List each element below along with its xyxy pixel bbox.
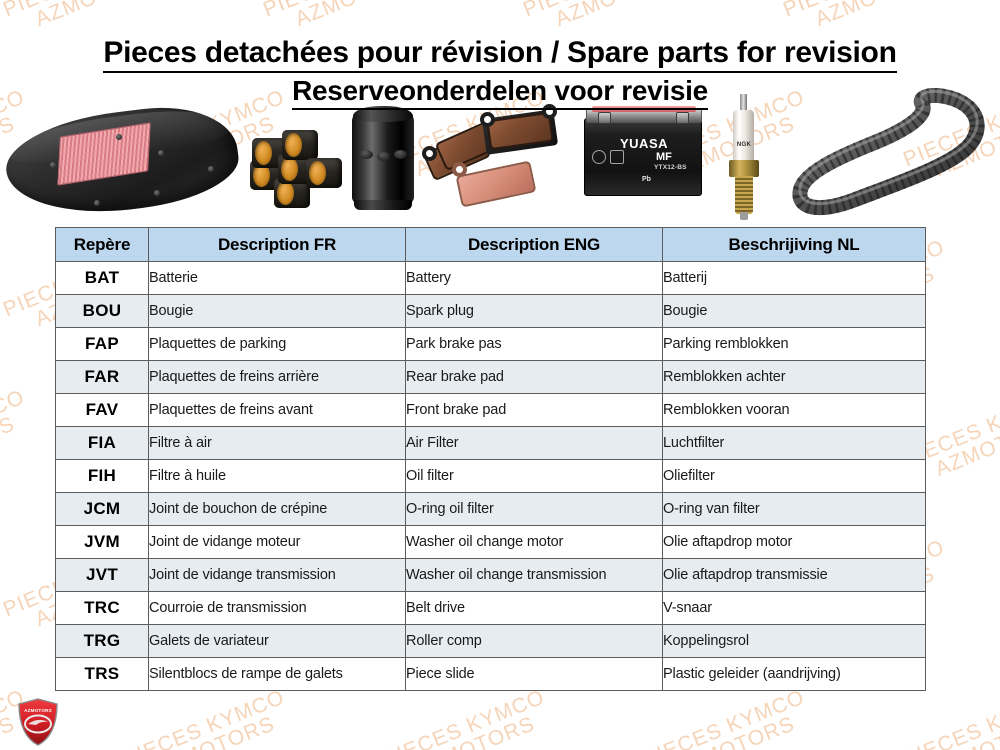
- cell-description-eng: Battery: [406, 262, 663, 295]
- page-title-fr-en: Pieces detachées pour révision / Spare p…: [103, 36, 896, 73]
- table-header-row: Repère Description FR Description ENG Be…: [56, 228, 926, 262]
- watermark-line-1: PIECES KYMCO: [0, 0, 168, 22]
- cell-repere: JVT: [56, 559, 149, 592]
- watermark-line-2: AZMOTORS: [412, 705, 556, 750]
- cell-repere: JVM: [56, 526, 149, 559]
- cell-description-eng: Belt drive: [406, 592, 663, 625]
- cell-repere: BAT: [56, 262, 149, 295]
- watermark-line-1: PIECES KYMCO: [0, 386, 28, 473]
- cell-description-fr: Joint de bouchon de crépine: [149, 493, 406, 526]
- watermark-line-1: PIECES KYMCO: [900, 686, 1000, 750]
- cell-beschrijiving-nl: Remblokken achter: [663, 361, 926, 394]
- cell-description-eng: Park brake pas: [406, 328, 663, 361]
- table-row: JCMJoint de bouchon de crépineO-ring oil…: [56, 493, 926, 526]
- table-row: BOUBougieSpark plugBougie: [56, 295, 926, 328]
- spark-plug-photo: NGK: [724, 94, 764, 220]
- cell-beschrijiving-nl: O-ring van filter: [663, 493, 926, 526]
- cell-repere: FAV: [56, 394, 149, 427]
- cell-beschrijiving-nl: Parking remblokken: [663, 328, 926, 361]
- cell-beschrijiving-nl: Bougie: [663, 295, 926, 328]
- watermark-text: PIECES KYMCOAZMOTORS: [640, 686, 816, 750]
- cell-description-eng: O-ring oil filter: [406, 493, 663, 526]
- table-row: BATBatterieBatteryBatterij: [56, 262, 926, 295]
- cell-repere: JCM: [56, 493, 149, 526]
- cell-beschrijiving-nl: Luchtfilter: [663, 427, 926, 460]
- watermark-line-1: PIECES KYMCO: [780, 0, 948, 22]
- cell-repere: BOU: [56, 295, 149, 328]
- watermark-line-2: AZMOTORS: [152, 705, 296, 750]
- cell-beschrijiving-nl: Plastic geleider (aandrijving): [663, 658, 926, 691]
- watermark-line-2: AZMOTORS: [932, 405, 1000, 482]
- table-row: FIHFiltre à huileOil filterOliefilter: [56, 460, 926, 493]
- column-header-description-fr: Description FR: [149, 228, 406, 262]
- cell-description-fr: Joint de vidange transmission: [149, 559, 406, 592]
- watermark-text: PIECES KYMCOAZMOTORS: [380, 686, 556, 750]
- cell-repere: TRS: [56, 658, 149, 691]
- cell-repere: TRC: [56, 592, 149, 625]
- table-row: TRCCourroie de transmissionBelt driveV-s…: [56, 592, 926, 625]
- watermark-line-2: AZMOTORS: [812, 0, 956, 32]
- cell-beschrijiving-nl: Olie aftapdrop motor: [663, 526, 926, 559]
- table-row: JVMJoint de vidange moteurWasher oil cha…: [56, 526, 926, 559]
- cell-description-eng: Air Filter: [406, 427, 663, 460]
- watermark-text: PIECES KYMCOAZMOTORS: [900, 686, 1000, 750]
- battery-pb-label: Pb: [642, 176, 651, 183]
- table-row: JVTJoint de vidange transmissionWasher o…: [56, 559, 926, 592]
- cell-beschrijiving-nl: Koppelingsrol: [663, 625, 926, 658]
- shield-icon: [16, 697, 60, 747]
- column-header-repere: Repère: [56, 228, 149, 262]
- table-row: FAPPlaquettes de parkingPark brake pasPa…: [56, 328, 926, 361]
- cell-beschrijiving-nl: Remblokken vooran: [663, 394, 926, 427]
- spare-parts-page: PIECES KYMCOAZMOTORSPIECES KYMCOAZMOTORS…: [0, 0, 1000, 750]
- watermark-line-1: PIECES KYMCO: [520, 0, 688, 22]
- cell-beschrijiving-nl: Batterij: [663, 262, 926, 295]
- watermark-line-2: AZMOTORS: [552, 0, 696, 32]
- table-row: TRGGalets de variateurRoller compKoppeli…: [56, 625, 926, 658]
- azmotors-logo: AZMOTORS: [16, 697, 60, 747]
- watermark-line-2: AZMOTORS: [292, 0, 436, 32]
- spare-parts-table-container: Repère Description FR Description ENG Be…: [55, 227, 925, 691]
- variator-rollers-photo: [248, 126, 348, 216]
- battery-photo: YUASA MF YTX12-BS Pb: [584, 106, 706, 206]
- cell-description-fr: Courroie de transmission: [149, 592, 406, 625]
- cell-beschrijiving-nl: Oliefilter: [663, 460, 926, 493]
- watermark-line-1: PIECES KYMCO: [380, 686, 548, 750]
- brake-pads-photo: [422, 98, 582, 216]
- column-header-description-eng: Description ENG: [406, 228, 663, 262]
- watermark-text: PIECES KYMCOAZMOTORS: [120, 686, 296, 750]
- watermark-line-2: AZMOTORS: [672, 705, 816, 750]
- cell-description-fr: Plaquettes de freins arrière: [149, 361, 406, 394]
- page-title-nl: Reserveonderdelen voor revisie: [292, 75, 708, 110]
- table-row: FARPlaquettes de freins arrièreRear brak…: [56, 361, 926, 394]
- watermark-text: PIECES KYMCOAZMOTORS: [0, 386, 36, 492]
- table-row: FIAFiltre à airAir FilterLuchtfilter: [56, 427, 926, 460]
- page-title-block: Pieces detachées pour révision / Spare p…: [0, 36, 1000, 110]
- logo-brand-label: AZMOTORS: [16, 708, 60, 713]
- cell-description-eng: Washer oil change transmission: [406, 559, 663, 592]
- cell-repere: FIA: [56, 427, 149, 460]
- battery-type-label: MF: [656, 151, 672, 163]
- cell-repere: FIH: [56, 460, 149, 493]
- spare-parts-table: Repère Description FR Description ENG Be…: [55, 227, 926, 691]
- cell-description-fr: Joint de vidange moteur: [149, 526, 406, 559]
- spare-parts-table-body: BATBatterieBatteryBatterijBOUBougieSpark…: [56, 262, 926, 691]
- cell-description-fr: Bougie: [149, 295, 406, 328]
- spark-plug-brand-label: NGK: [734, 142, 754, 148]
- cell-description-fr: Silentblocs de rampe de galets: [149, 658, 406, 691]
- oil-filter-photo: [352, 106, 414, 210]
- cell-description-eng: Spark plug: [406, 295, 663, 328]
- cell-description-fr: Plaquettes de parking: [149, 328, 406, 361]
- cell-description-eng: Washer oil change motor: [406, 526, 663, 559]
- column-header-beschrijiving-nl: Beschrijiving NL: [663, 228, 926, 262]
- battery-brand-label: YUASA: [620, 136, 668, 151]
- cell-repere: TRG: [56, 625, 149, 658]
- watermark-line-1: PIECES KYMCO: [260, 0, 428, 22]
- air-filter-photo: [6, 104, 238, 216]
- cell-description-eng: Oil filter: [406, 460, 663, 493]
- cell-description-eng: Piece slide: [406, 658, 663, 691]
- cell-description-eng: Rear brake pad: [406, 361, 663, 394]
- cell-beschrijiving-nl: V-snaar: [663, 592, 926, 625]
- cell-beschrijiving-nl: Olie aftapdrop transmissie: [663, 559, 926, 592]
- watermark-line-2: AZMOTORS: [932, 705, 1000, 750]
- cell-description-eng: Roller comp: [406, 625, 663, 658]
- cell-repere: FAR: [56, 361, 149, 394]
- cell-description-fr: Plaquettes de freins avant: [149, 394, 406, 427]
- watermark-line-2: AZMOTORS: [0, 405, 36, 482]
- cell-description-fr: Filtre à huile: [149, 460, 406, 493]
- table-row: TRSSilentblocs de rampe de galetsPiece s…: [56, 658, 926, 691]
- watermark-line-2: AZMOTORS: [32, 0, 176, 32]
- watermark-line-1: PIECES KYMCO: [120, 686, 288, 750]
- cell-description-fr: Batterie: [149, 262, 406, 295]
- cell-description-fr: Filtre à air: [149, 427, 406, 460]
- cell-description-fr: Galets de variateur: [149, 625, 406, 658]
- cell-repere: FAP: [56, 328, 149, 361]
- battery-model-label: YTX12-BS: [654, 164, 687, 171]
- table-row: FAVPlaquettes de freins avantFront brake…: [56, 394, 926, 427]
- cell-description-eng: Front brake pad: [406, 394, 663, 427]
- watermark-line-1: PIECES KYMCO: [640, 686, 808, 750]
